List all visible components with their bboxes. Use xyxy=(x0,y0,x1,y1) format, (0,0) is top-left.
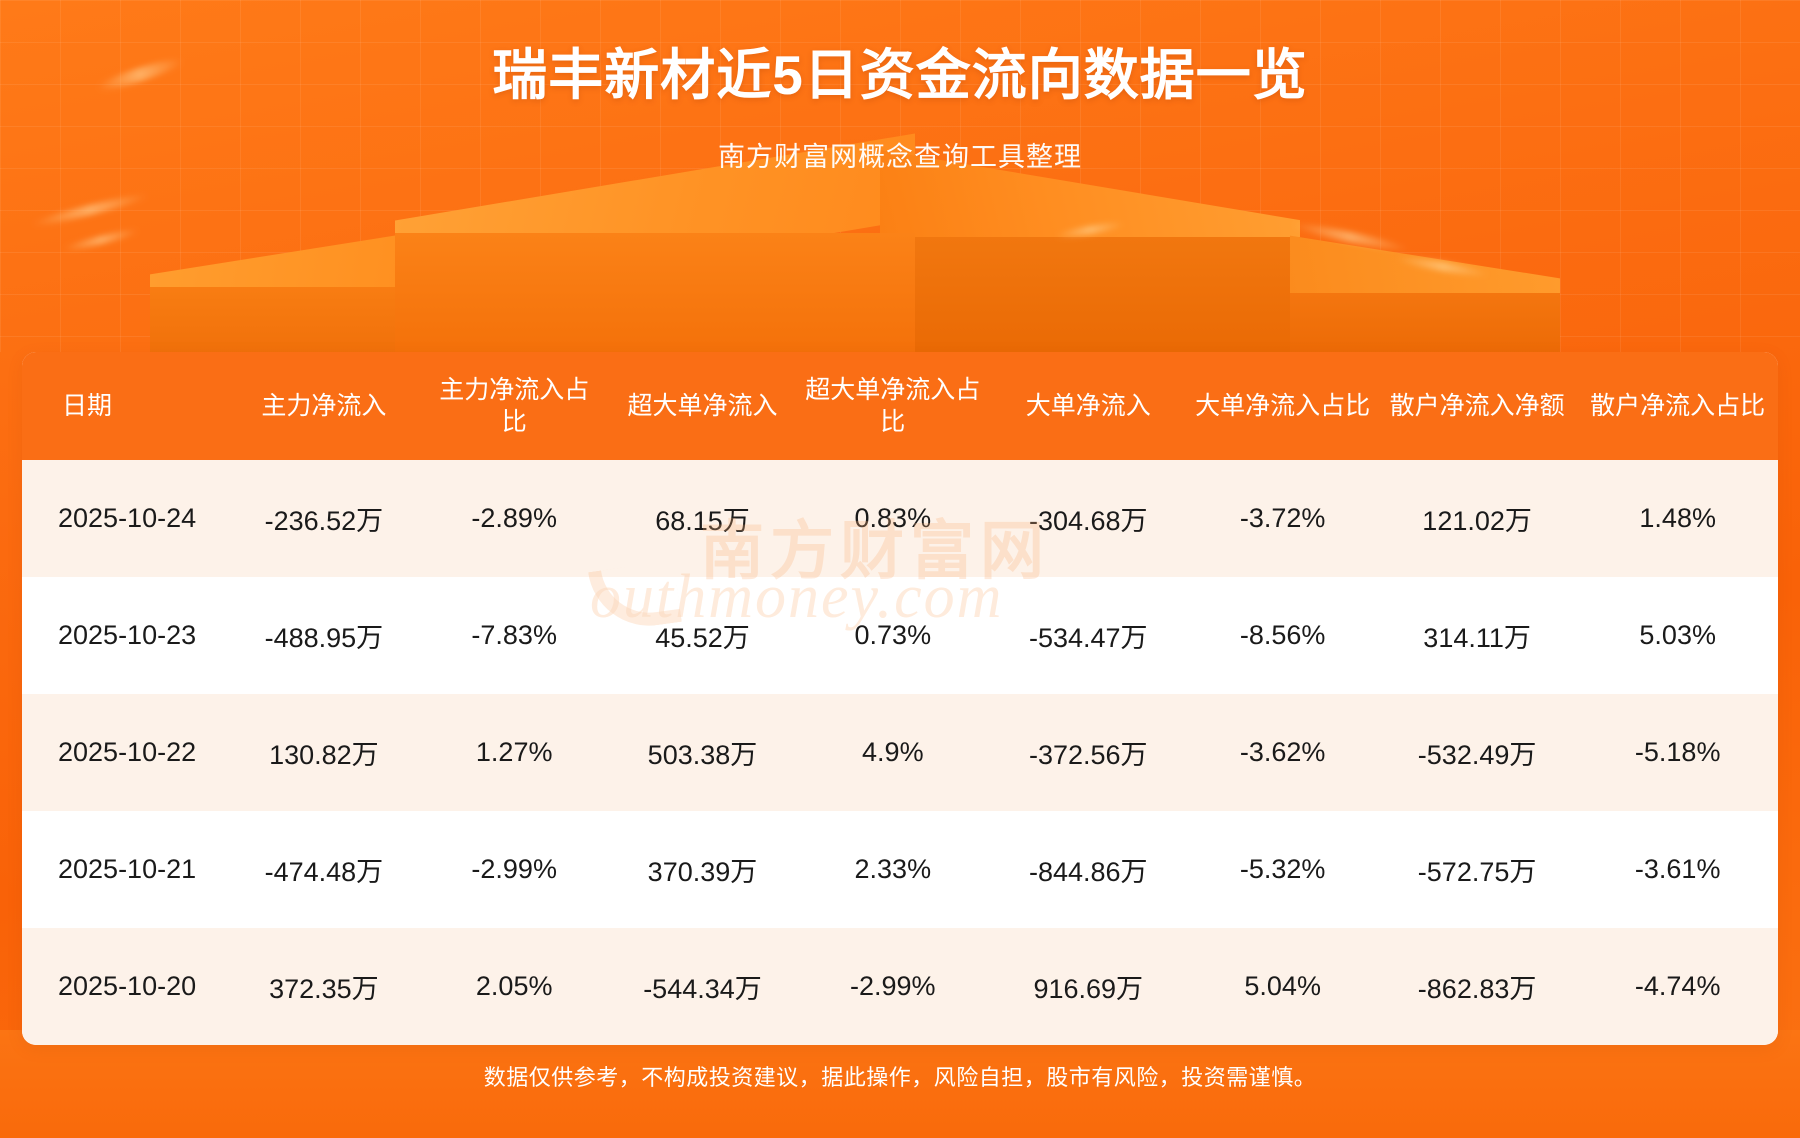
table-header: 日期 主力净流入 主力净流入占比 超大单净流入 超大单净流入占比 大单净流入 大… xyxy=(22,352,1778,460)
cell-large-net-inflow: 916.69万 xyxy=(988,928,1189,1045)
cell-super-large-net-inflow-ratio: -2.99% xyxy=(798,928,988,1045)
column-header-date[interactable]: 日期 xyxy=(22,352,227,460)
cell-super-large-net-inflow: 45.52万 xyxy=(607,577,797,694)
podium-block-left-face xyxy=(150,287,420,355)
fund-flow-table: 日期 主力净流入 主力净流入占比 超大单净流入 超大单净流入占比 大单净流入 大… xyxy=(22,352,1778,1045)
cell-large-net-inflow: -844.86万 xyxy=(988,811,1189,928)
column-header-super-large-net-inflow[interactable]: 超大单净流入 xyxy=(607,352,797,460)
table-row[interactable]: 2025-10-21-474.48万-2.99%370.39万2.33%-844… xyxy=(22,811,1778,928)
hero-banner: 瑞丰新材近5日资金流向数据一览 南方财富网概念查询工具整理 xyxy=(0,0,1800,352)
cell-large-net-inflow-ratio: -3.72% xyxy=(1189,460,1377,577)
podium-block-right-face xyxy=(1290,293,1560,355)
cell-main-net-inflow: -474.48万 xyxy=(227,811,421,928)
column-header-retail-net-inflow-amount[interactable]: 散户净流入净额 xyxy=(1377,352,1578,460)
page-subtitle: 南方财富网概念查询工具整理 xyxy=(0,109,1800,174)
cell-main-net-inflow: 372.35万 xyxy=(227,928,421,1045)
column-header-retail-net-inflow-ratio[interactable]: 散户净流入占比 xyxy=(1577,352,1778,460)
cell-main-net-inflow-ratio: -2.89% xyxy=(421,460,607,577)
cell-super-large-net-inflow-ratio: 0.73% xyxy=(798,577,988,694)
cell-retail-net-inflow-ratio: -5.18% xyxy=(1577,694,1778,811)
page-title: 瑞丰新材近5日资金流向数据一览 xyxy=(0,0,1800,109)
cell-main-net-inflow-ratio: 1.27% xyxy=(421,694,607,811)
cell-main-net-inflow: -236.52万 xyxy=(227,460,421,577)
cell-retail-net-inflow-amount: 121.02万 xyxy=(1377,460,1578,577)
cell-retail-net-inflow-amount: -532.49万 xyxy=(1377,694,1578,811)
table-header-row: 日期 主力净流入 主力净流入占比 超大单净流入 超大单净流入占比 大单净流入 大… xyxy=(22,352,1778,460)
cell-main-net-inflow-ratio: -7.83% xyxy=(421,577,607,694)
cell-date: 2025-10-21 xyxy=(22,811,227,928)
column-header-large-net-inflow-ratio[interactable]: 大单净流入占比 xyxy=(1189,352,1377,460)
data-table-card: 日期 主力净流入 主力净流入占比 超大单净流入 超大单净流入占比 大单净流入 大… xyxy=(22,352,1778,1045)
cell-main-net-inflow: 130.82万 xyxy=(227,694,421,811)
cell-large-net-inflow-ratio: -3.62% xyxy=(1189,694,1377,811)
table-row[interactable]: 2025-10-24-236.52万-2.89%68.15万0.83%-304.… xyxy=(22,460,1778,577)
cell-date: 2025-10-24 xyxy=(22,460,227,577)
cell-retail-net-inflow-ratio: -3.61% xyxy=(1577,811,1778,928)
cell-super-large-net-inflow-ratio: 4.9% xyxy=(798,694,988,811)
cell-super-large-net-inflow: 370.39万 xyxy=(607,811,797,928)
disclaimer-text: 数据仅供参考，不构成投资建议，据此操作，风险自担，股市有风险，投资需谨慎。 xyxy=(0,1060,1800,1092)
cell-retail-net-inflow-amount: -572.75万 xyxy=(1377,811,1578,928)
table-row[interactable]: 2025-10-22130.82万1.27%503.38万4.9%-372.56… xyxy=(22,694,1778,811)
page-root: 瑞丰新材近5日资金流向数据一览 南方财富网概念查询工具整理 日期 主力净流入 主… xyxy=(0,0,1800,1138)
cell-super-large-net-inflow: 68.15万 xyxy=(607,460,797,577)
table-row[interactable]: 2025-10-20372.35万2.05%-544.34万-2.99%916.… xyxy=(22,928,1778,1045)
podium-block-center-face-right xyxy=(915,237,1300,353)
table-body: 2025-10-24-236.52万-2.89%68.15万0.83%-304.… xyxy=(22,460,1778,1045)
cell-large-net-inflow: -304.68万 xyxy=(988,460,1189,577)
cell-super-large-net-inflow: -544.34万 xyxy=(607,928,797,1045)
cell-super-large-net-inflow: 503.38万 xyxy=(607,694,797,811)
cell-retail-net-inflow-amount: -862.83万 xyxy=(1377,928,1578,1045)
cell-retail-net-inflow-ratio: 1.48% xyxy=(1577,460,1778,577)
cell-main-net-inflow-ratio: 2.05% xyxy=(421,928,607,1045)
column-header-large-net-inflow[interactable]: 大单净流入 xyxy=(988,352,1189,460)
column-header-main-net-inflow[interactable]: 主力净流入 xyxy=(227,352,421,460)
podium-block-center-face-left xyxy=(395,233,915,353)
cell-super-large-net-inflow-ratio: 0.83% xyxy=(798,460,988,577)
cell-retail-net-inflow-ratio: 5.03% xyxy=(1577,577,1778,694)
cell-large-net-inflow: -372.56万 xyxy=(988,694,1189,811)
cell-retail-net-inflow-amount: 314.11万 xyxy=(1377,577,1578,694)
table-row[interactable]: 2025-10-23-488.95万-7.83%45.52万0.73%-534.… xyxy=(22,577,1778,694)
cell-date: 2025-10-22 xyxy=(22,694,227,811)
cell-date: 2025-10-20 xyxy=(22,928,227,1045)
cell-super-large-net-inflow-ratio: 2.33% xyxy=(798,811,988,928)
cell-large-net-inflow-ratio: 5.04% xyxy=(1189,928,1377,1045)
cell-large-net-inflow-ratio: -8.56% xyxy=(1189,577,1377,694)
cell-large-net-inflow-ratio: -5.32% xyxy=(1189,811,1377,928)
cell-date: 2025-10-23 xyxy=(22,577,227,694)
cell-main-net-inflow-ratio: -2.99% xyxy=(421,811,607,928)
cell-main-net-inflow: -488.95万 xyxy=(227,577,421,694)
column-header-main-net-inflow-ratio[interactable]: 主力净流入占比 xyxy=(421,352,607,460)
cell-retail-net-inflow-ratio: -4.74% xyxy=(1577,928,1778,1045)
column-header-super-large-net-inflow-ratio[interactable]: 超大单净流入占比 xyxy=(798,352,988,460)
podium-illustration xyxy=(0,167,1800,352)
cell-large-net-inflow: -534.47万 xyxy=(988,577,1189,694)
